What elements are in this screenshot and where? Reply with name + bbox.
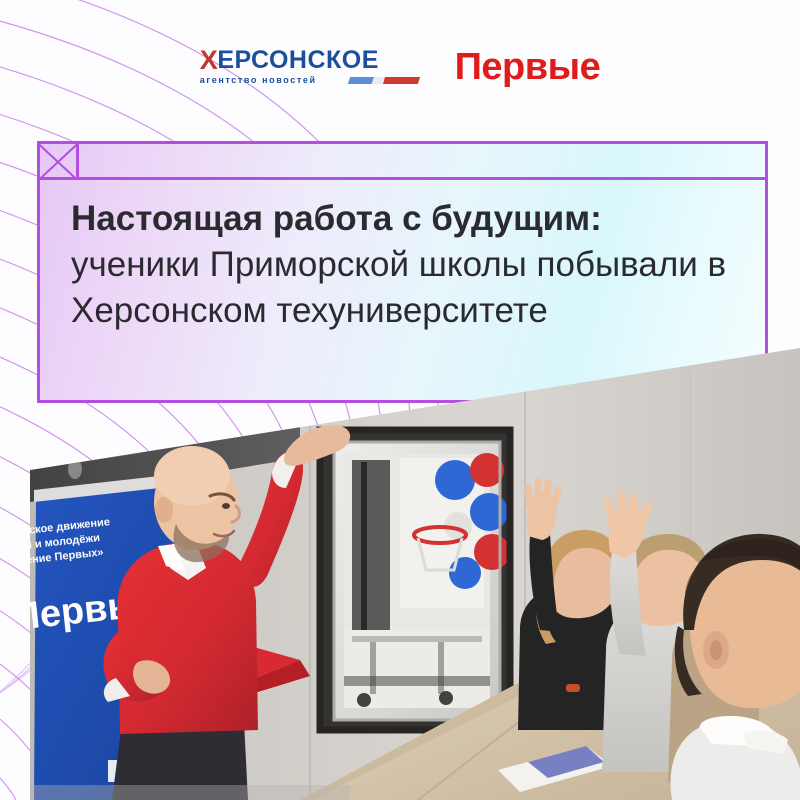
pervye-logo[interactable]: Первые [455, 46, 601, 89]
headline-line-regular: ученики Приморской школы побывали в Херс… [71, 242, 745, 334]
tricolor-bar-icon [347, 77, 419, 84]
page-title: Настоящая работа с будущим: ученики Прим… [71, 196, 745, 335]
article-photo: ийское движение тей и молодёжи ижение Пе… [0, 330, 800, 800]
kherson-news-agency-logo[interactable]: ХЕРСОНСКОЕ агентство новостей [200, 46, 419, 85]
kherson-logo-main-text: ЕРСОНСКОЕ [217, 48, 379, 73]
x-box-icon [40, 144, 79, 180]
kherson-logo-subtitle: агентство новостей [200, 76, 317, 85]
kherson-logo-wordmark: ХЕРСОНСКОЕ [200, 46, 379, 73]
poster-root: ХЕРСОНСКОЕ агентство новостей Первые Нас… [0, 0, 800, 800]
kherson-logo-subtitle-row: агентство новостей [200, 76, 419, 85]
kherson-logo-x-letter: Х [200, 47, 219, 74]
card-top-strip [40, 144, 765, 180]
header-logos: ХЕРСОНСКОЕ агентство новостей Первые [0, 0, 800, 140]
headline-line-bold: Настоящая работа с будущим: [71, 196, 745, 242]
